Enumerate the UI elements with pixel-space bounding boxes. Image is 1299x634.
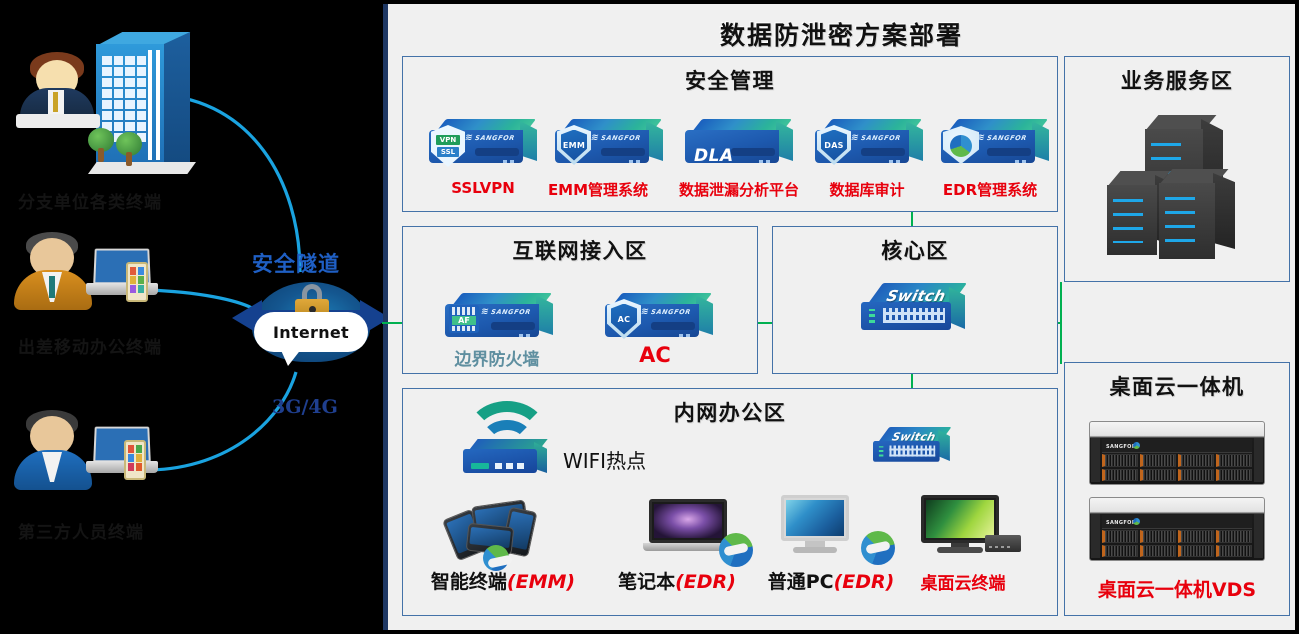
zone-internet-access: 互联网接入区 ≋SANGFOR AF ≋SANGFOR AC 边界防火墙 AC (402, 226, 758, 374)
zone-business-service: 业务服务区 (1064, 56, 1290, 282)
wifi-hotspot-label: WIFI热点 (563, 445, 646, 474)
zone-title-security: 安全管理 (403, 65, 1057, 95)
device-label-firewall: 边界防火墙 (427, 345, 567, 370)
endpoint-label-text: 普通PC (768, 571, 834, 593)
endpoint-label-pc: 普通PC(EDR) (751, 567, 911, 594)
terminal-label-branch: 分支单位各类终端 (18, 188, 162, 213)
endpoint-label-text: 智能终端 (431, 571, 507, 593)
zone-intranet-office: 内网办公区 WIFI热点 Switch (402, 388, 1058, 616)
third-party-laptop-icon (86, 426, 158, 474)
emm-appliance-icon: ≋SANGFOR EMM (555, 119, 663, 165)
link-desktop-cloud-up (1060, 322, 1062, 364)
zone-title-business-service: 业务服务区 (1065, 65, 1289, 95)
cloud-terminal-icon (915, 493, 1031, 567)
device-label-vds: 桌面云一体机VDS (1065, 575, 1289, 602)
device-label-ac: AC (595, 343, 715, 367)
device-label-emm: EMM管理系统 (523, 179, 673, 200)
internet-cloud: Internet (238, 272, 384, 376)
page-title: 数据防泄密方案部署 (388, 16, 1295, 52)
mobile-network-label: 3G/4G (272, 396, 338, 418)
mobile-phone-icon (126, 262, 148, 302)
zone-title-internet-access: 互联网接入区 (403, 235, 757, 265)
endpoint-label-smart-terminals: 智能终端(EMM) (411, 567, 595, 594)
endpoint-label-suffix: (EMM) (507, 571, 575, 593)
access-switch-icon: Switch (873, 427, 950, 465)
zone-core: 核心区 Switch (772, 226, 1058, 374)
das-appliance-icon: ≋SANGFOR DAS (815, 119, 923, 165)
terminal-label-third-party: 第三方人员终端 (18, 518, 144, 543)
core-switch-label: Switch (885, 287, 948, 305)
third-party-user-avatar-icon (12, 410, 96, 490)
endpoint-label-laptop: 笔记本(EDR) (599, 567, 755, 594)
endpoint-label-text: 笔记本 (618, 571, 675, 593)
zone-desktop-cloud: 桌面云一体机 SANGFOR SANGFOR 桌面云一体机VDS (1064, 362, 1290, 616)
endpoint-label-suffix: (EDR) (675, 571, 736, 593)
edr-appliance-icon: ≋SANGFOR (941, 119, 1049, 165)
branch-user-avatar-icon (14, 52, 106, 124)
device-label-edr: EDR管理系统 (917, 179, 1063, 200)
desktop-pc-icon (777, 493, 893, 567)
core-switch-icon: Switch (861, 283, 965, 335)
ac-appliance-icon: ≋SANGFOR AC (605, 293, 713, 339)
dla-appliance-icon: DLA (685, 119, 793, 165)
internet-bubble: Internet (254, 312, 368, 352)
device-label-dla: 数据泄漏分析平台 (655, 179, 823, 200)
wifi-hotspot-icon (461, 401, 553, 477)
terminal-label-mobile: 出差移动办公终端 (18, 333, 162, 358)
server-stack-icon (1105, 113, 1255, 293)
diagram-canvas: 分支单位各类终端 出差移动办公终端 第三方人员终端 安全隧道 Internet (0, 0, 1299, 634)
zone-title-desktop-cloud: 桌面云一体机 (1065, 371, 1289, 401)
zone-security-management: 安全管理 ≋SANGFOR VPNSSL ≋SANGFOR EMM DLA ≋S… (402, 56, 1058, 212)
rack-logo: SANGFOR (1106, 441, 1143, 450)
internet-label: Internet (273, 323, 349, 342)
rack-server-icon: SANGFOR (1089, 421, 1265, 485)
laptop-icon (635, 495, 751, 569)
firewall-appliance-icon: ≋SANGFOR AF (445, 293, 553, 339)
endpoint-label-suffix: (EDR) (834, 571, 895, 593)
access-switch-label: Switch (891, 430, 937, 443)
device-label-das: 数据库审计 (807, 179, 927, 200)
sslvpn-appliance-icon: ≋SANGFOR VPNSSL (429, 119, 537, 165)
link-business-down (1060, 282, 1062, 324)
third-party-phone-icon (124, 440, 146, 480)
tree-icon (116, 132, 142, 166)
deployment-frame: 数据防泄密方案部署 安全管理 ≋SANGFOR VPNSSL ≋SANGFOR … (383, 4, 1295, 630)
smart-terminals-icon (443, 495, 559, 569)
rack-logo: SANGFOR (1106, 517, 1143, 526)
tree-icon (88, 128, 114, 162)
endpoint-label-cloud-terminal: 桌面云终端 (893, 569, 1033, 594)
zone-title-core: 核心区 (773, 235, 1057, 265)
mobile-user-avatar-icon (12, 232, 96, 310)
rack-server-icon: SANGFOR (1089, 497, 1265, 561)
